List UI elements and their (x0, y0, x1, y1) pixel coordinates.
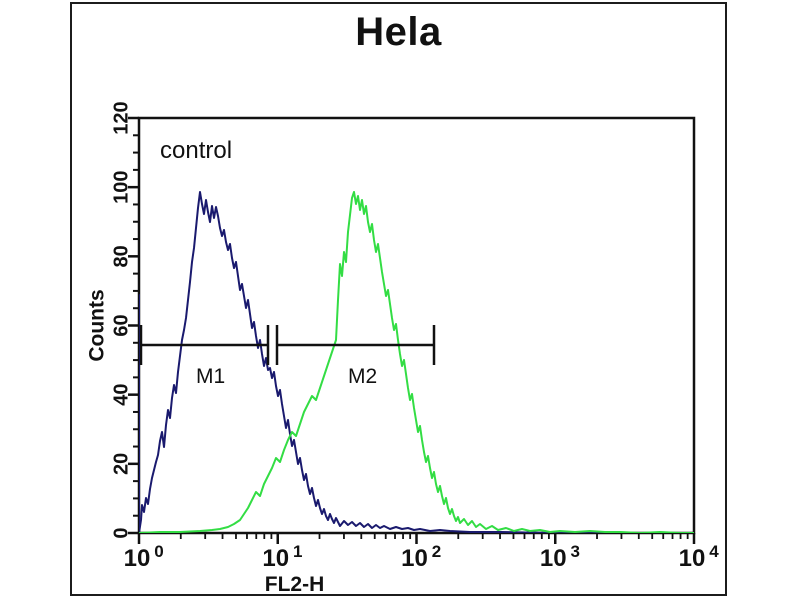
x-axis-tick-label: 104 (679, 542, 720, 572)
x-axis-tick-exponent: 2 (432, 542, 441, 561)
y-axis-tick-label: 20 (110, 453, 132, 475)
x-axis-tick-mantissa: 10 (401, 545, 428, 572)
gate-marker-m1[interactable] (141, 325, 268, 365)
x-axis-tick-label: 101 (262, 542, 302, 572)
y-axis-tick-label: 0 (110, 527, 132, 538)
x-axis-tick-mantissa: 10 (262, 545, 289, 572)
x-axis-tick-exponent: 0 (154, 542, 163, 561)
x-axis-tick-label: 103 (540, 542, 580, 572)
y-axis-tick-label: 120 (110, 101, 132, 134)
annotation-m2: M2 (348, 365, 377, 388)
x-axis-tick-exponent: 1 (293, 542, 302, 561)
y-axis-tick-label: 60 (110, 314, 132, 336)
x-axis-tick-mantissa: 10 (540, 545, 567, 572)
x-axis-tick-mantissa: 10 (124, 545, 151, 572)
x-axis-tick-exponent: 3 (571, 542, 580, 561)
x-axis-tick-exponent: 4 (709, 542, 719, 561)
data-trace-sample (139, 192, 694, 533)
x-axis-tick-mantissa: 10 (679, 545, 706, 572)
annotation-m1: M1 (196, 365, 225, 388)
histogram-plot: 020406080100120Counts100101102103104FL2-… (0, 0, 800, 600)
y-axis-tick-label: 80 (110, 245, 132, 267)
x-axis-tick-label: 102 (401, 542, 441, 572)
y-axis-tick-label: 40 (110, 384, 132, 406)
data-trace-control (139, 192, 694, 533)
plot-frame (139, 118, 694, 533)
gate-marker-m2[interactable] (277, 325, 434, 365)
flow-cytometry-figure: Hela 020406080100120Counts10010110210310… (0, 0, 800, 600)
x-axis-title: FL2-H (265, 573, 325, 596)
y-axis-title: Counts (86, 289, 109, 361)
y-axis-tick-label: 100 (110, 170, 132, 203)
x-axis-tick-label: 100 (124, 542, 164, 572)
annotation-control: control (160, 137, 232, 164)
